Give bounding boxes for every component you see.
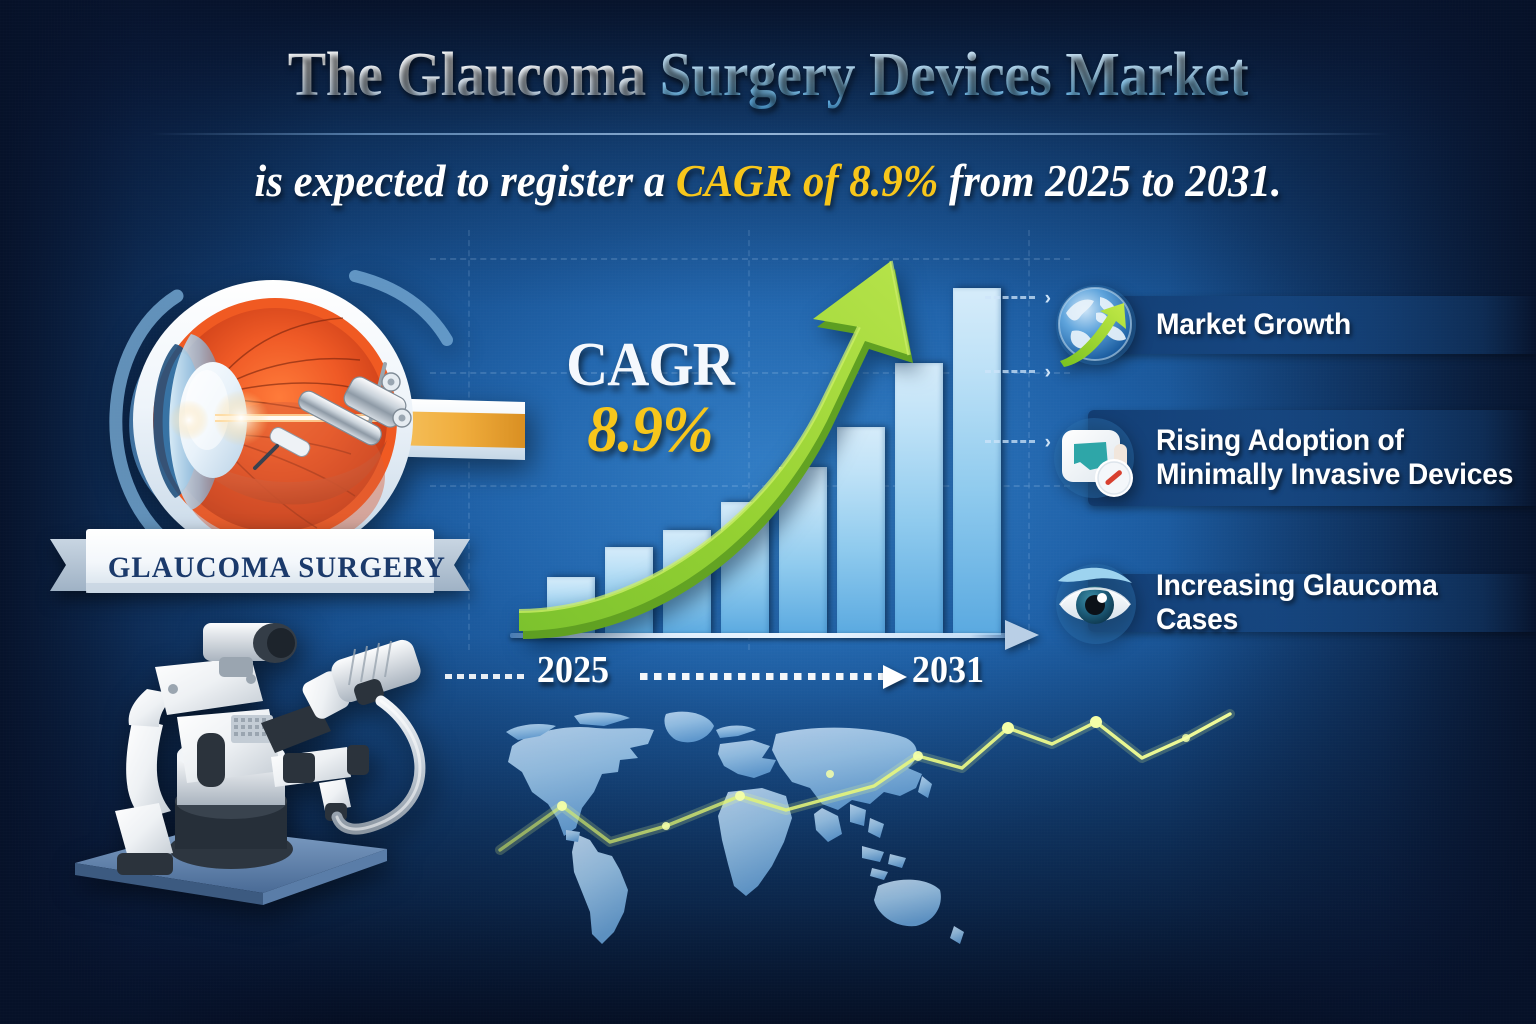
globe-growth-icon bbox=[1050, 279, 1142, 371]
infographic-canvas: The Glaucoma Surgery Devices Market is e… bbox=[0, 0, 1536, 1024]
connector-line-2: › bbox=[985, 370, 1035, 373]
cagr-value: 8.9% bbox=[537, 396, 763, 463]
timeline-start-year: 2025 bbox=[537, 648, 609, 692]
sidebar-item-label: Market Growth bbox=[1156, 308, 1351, 342]
eye-icon bbox=[1050, 557, 1142, 649]
sidebar-item-label: Rising Adoption of Minimally Invasive De… bbox=[1156, 424, 1513, 491]
sidebar-item-market-growth[interactable]: Market Growth bbox=[1050, 275, 1536, 375]
sidebar-item-label-line-1: Rising Adoption of bbox=[1156, 424, 1404, 457]
sidebar-item-glaucoma-cases[interactable]: Increasing Glaucoma Cases bbox=[1050, 553, 1536, 653]
timeline-end-year: 2031 bbox=[912, 648, 984, 692]
sidebar-item-minimally-invasive[interactable]: Rising Adoption of Minimally Invasive De… bbox=[1050, 403, 1536, 513]
page-title: The Glaucoma Surgery Devices Market bbox=[54, 40, 1482, 111]
subtitle-prefix: is expected to register a bbox=[254, 156, 675, 206]
ribbon-banner bbox=[50, 525, 470, 605]
timeline-axis: 2025 2031 bbox=[440, 648, 1020, 698]
timeline-arrow-head bbox=[883, 665, 907, 689]
timeline-dots-left bbox=[445, 674, 525, 679]
subtitle-suffix: from 2025 to 2031. bbox=[938, 156, 1281, 206]
robotic-surgical-arm-illustration bbox=[55, 605, 455, 905]
connector-line-1: › bbox=[985, 296, 1035, 299]
connector-line-3: › bbox=[985, 440, 1035, 443]
page-title-part-2: Surgery Devices Market bbox=[660, 41, 1249, 109]
key-drivers-list: Market Growth bbox=[1050, 275, 1536, 660]
sidebar-item-label-line-2: Minimally Invasive Devices bbox=[1156, 458, 1513, 491]
sidebar-item-label: Increasing Glaucoma Cases bbox=[1156, 569, 1513, 636]
cagr-callout: CAGR 8.9% bbox=[537, 336, 763, 463]
page-title-part-1: The Glaucoma bbox=[288, 41, 660, 109]
timeline-dots-mid bbox=[640, 673, 885, 680]
cagr-label: CAGR bbox=[537, 336, 763, 396]
device-card-icon bbox=[1050, 412, 1142, 504]
glowing-growth-trendline bbox=[470, 700, 1480, 930]
page-subtitle: is expected to register a CAGR of 8.9% f… bbox=[38, 155, 1497, 207]
subtitle-cagr-highlight: CAGR of 8.9% bbox=[676, 156, 938, 206]
title-divider bbox=[150, 133, 1390, 135]
